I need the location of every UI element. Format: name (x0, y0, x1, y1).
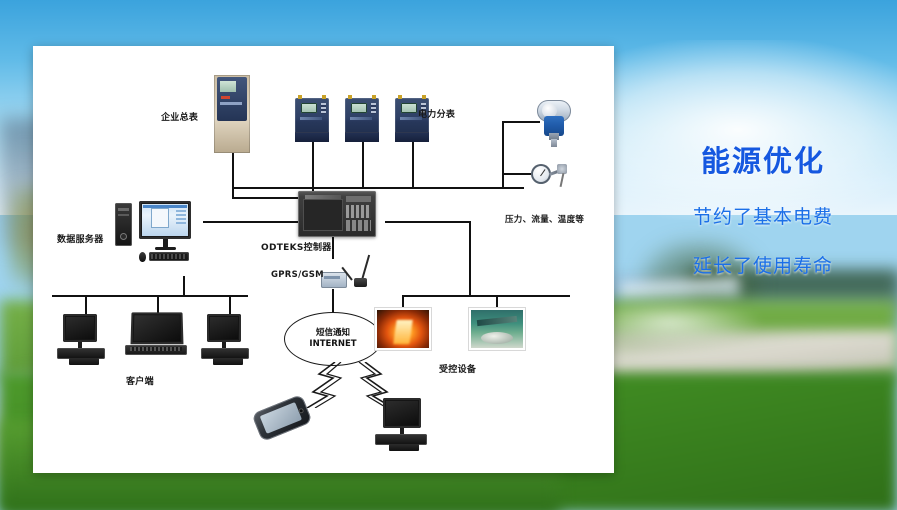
controller-to-modem (332, 237, 334, 259)
pressure-transmitter-icon (533, 98, 575, 148)
client-laptop[interactable] (125, 312, 195, 366)
submeter3-drop (412, 142, 414, 188)
odteks-controller[interactable] (298, 191, 376, 237)
monitor-icon (207, 314, 241, 342)
internet-cloud[interactable]: 短信通知 INTERNET (284, 312, 382, 366)
electricity-meter-icon (295, 98, 329, 142)
gauge-icon (531, 161, 569, 187)
controlled-equipment-label: 受控设备 (439, 362, 476, 375)
submeter2-drop (362, 142, 364, 188)
sensor-bottom-branch (502, 173, 532, 175)
sensors-label: 压力、流量、温度等 (505, 213, 584, 225)
enterprise-main-meter[interactable] (214, 75, 250, 153)
tower-icon (115, 203, 132, 246)
mobile-phone[interactable] (255, 403, 309, 433)
client-terminal-label: 客户端 (126, 374, 154, 387)
mouse-icon (139, 252, 146, 262)
machine-drop (496, 295, 498, 311)
remote-desktop[interactable] (373, 398, 435, 450)
gprs-gsm-label: GPRS/GSM (271, 270, 324, 280)
antenna-rod-icon (361, 255, 370, 281)
client-bus (52, 295, 248, 297)
modem-icon (321, 272, 347, 288)
monitor-icon (63, 314, 97, 342)
power-sub-meter-1[interactable] (295, 98, 329, 142)
bullet-1: 节约了基本电费 (632, 202, 894, 229)
machine-photo[interactable] (471, 310, 523, 348)
marketing-copy: 能源优化 节约了基本电费 延长了使用寿命 (632, 138, 894, 278)
wall-meter-icon (214, 75, 250, 153)
equipment-riser (469, 221, 471, 295)
server-to-client-bus (183, 276, 185, 295)
data-server[interactable] (113, 191, 205, 275)
power-sub-meter-3[interactable] (395, 98, 429, 142)
client-desktop-right[interactable] (199, 314, 259, 366)
headline: 能源优化 (632, 138, 894, 180)
monitor-icon (383, 398, 421, 428)
monitor-base (155, 247, 176, 250)
controller-label: ODTEKS控制器 (261, 240, 332, 253)
submeter1-drop (312, 142, 314, 188)
smartphone-icon (251, 394, 312, 442)
antenna-base-icon (354, 278, 367, 287)
monitor-icon (139, 201, 191, 239)
client-desktop-left[interactable] (55, 314, 115, 366)
electricity-meter-icon (345, 98, 379, 142)
equipment-bus (402, 295, 570, 297)
keyboard-icon (389, 444, 419, 451)
cloud-line-1: 短信通知 (316, 328, 350, 339)
top-bus-line (232, 187, 524, 189)
laptop-screen-icon (131, 312, 184, 344)
controller-rack-icon (298, 191, 376, 237)
left-bus-stub (232, 187, 234, 197)
enterprise-main-meter-label: 企业总表 (161, 110, 198, 123)
gprs-modem[interactable] (321, 258, 381, 292)
pressure-gauge[interactable] (531, 161, 569, 187)
furnace-photo[interactable] (377, 310, 429, 348)
data-server-label: 数据服务器 (57, 232, 104, 245)
keyboard-icon (69, 358, 99, 365)
laptop-base-icon (125, 345, 187, 355)
pressure-transmitter[interactable] (533, 98, 575, 148)
equipment-link-line (385, 221, 471, 223)
diagram-panel: 企业总表 电力分表 (33, 46, 614, 473)
electricity-meter-icon (395, 98, 429, 142)
power-sub-meter-2[interactable] (345, 98, 379, 142)
keyboard-icon (149, 252, 189, 261)
keyboard-icon (213, 358, 243, 365)
modem-to-cloud (332, 289, 334, 313)
bullet-2: 延长了使用寿命 (632, 251, 894, 278)
cloud-line-2: INTERNET (309, 339, 356, 350)
furnace-drop (402, 295, 404, 311)
sensor-riser-line (502, 121, 504, 187)
power-sub-meter-label: 电力分表 (418, 107, 455, 120)
monitor-stand (163, 239, 168, 247)
diagram-canvas: 企业总表 电力分表 (33, 46, 614, 473)
server-link-line (203, 221, 298, 223)
